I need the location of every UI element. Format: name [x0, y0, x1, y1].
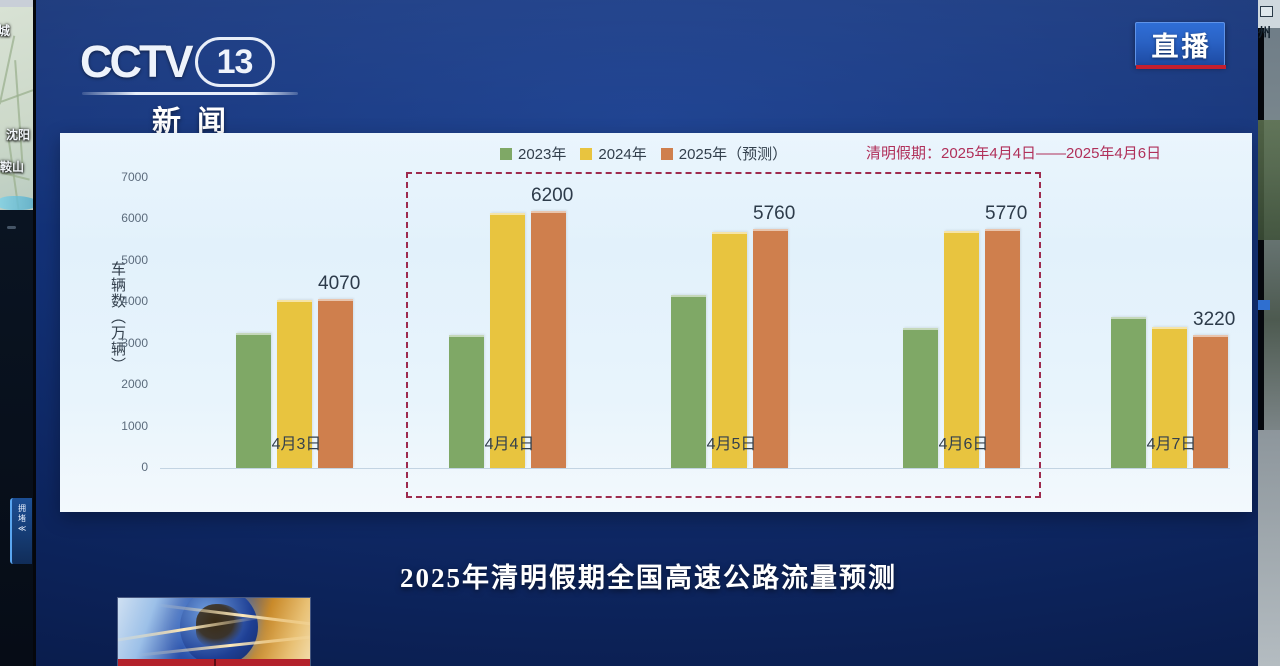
- bar-group-4月7日: 32204月7日: [1111, 178, 1228, 468]
- map-marker: [7, 226, 16, 229]
- map-top-bar: [0, 0, 33, 7]
- channel-number: 13: [195, 37, 275, 87]
- collapse-chevron-icon: ≪: [12, 524, 32, 534]
- studio-screen: CCTV 13 新闻 直播 2023年2024年2025年（预测） 清明假期：2…: [33, 0, 1258, 666]
- y-axis-tick-label: 0: [102, 460, 148, 474]
- holiday-highlight-box: [406, 172, 1041, 498]
- y-axis-tick-label: 5000: [102, 253, 148, 267]
- bar-highlight: [277, 300, 312, 302]
- congestion-tab-char-1: 拥: [12, 504, 32, 514]
- x-axis-tick-label: 4月3日: [236, 430, 357, 454]
- chart-card: 2023年2024年2025年（预测） 清明假期：2025年4月4日——2025…: [60, 133, 1252, 512]
- road-sign-icon: [1260, 6, 1273, 17]
- x-axis-tick-label: 4月7日: [1111, 430, 1232, 454]
- right-video-feed: 州: [1258, 0, 1280, 666]
- y-axis-tick-label: 1000: [102, 419, 148, 433]
- logo-underline: [82, 92, 298, 95]
- cctv13-logo: CCTV 13 新闻: [80, 36, 320, 132]
- bar-group-4月3日: 40704月3日: [236, 178, 353, 468]
- map-city-label: 鞍山: [0, 158, 24, 175]
- bar-value-label: 4070: [318, 273, 353, 295]
- y-axis-tick-label: 3000: [102, 336, 148, 350]
- chart-plot-area: 车辆数（万辆） 70006000500040003000200010000 40…: [60, 133, 1252, 512]
- news-thumbnail: [118, 598, 310, 666]
- y-axis-title: 车辆数（万辆）: [108, 261, 128, 373]
- congestion-tab-char-2: 堵: [12, 514, 32, 524]
- feed-blue-sign: [1258, 300, 1270, 310]
- thumbnail-notch: [214, 659, 216, 666]
- bar-value-label: 3220: [1193, 309, 1228, 331]
- feed-foliage: [1258, 120, 1280, 240]
- bar-highlight: [1193, 335, 1228, 337]
- feed-text-fragment: 州: [1258, 22, 1271, 41]
- live-badge-underline: [1136, 65, 1226, 69]
- bar-highlight: [1152, 327, 1187, 329]
- y-axis-tick-label: 4000: [102, 294, 148, 308]
- map-city-label: 城: [0, 22, 10, 39]
- bar-highlight: [236, 333, 271, 335]
- map-city-label: 沈阳: [6, 126, 30, 143]
- page-title: 2025年清明假期全国高速公路流量预测: [36, 556, 1258, 595]
- live-badge: 直播: [1135, 22, 1225, 66]
- map-sea: [0, 210, 33, 666]
- left-map-feed: 城 沈阳 鞍山 拥 堵 ≪: [0, 0, 33, 666]
- feed-roadway: [1258, 430, 1280, 666]
- y-axis-tick-label: 2000: [102, 377, 148, 391]
- channel-letters: CCTV: [80, 36, 191, 88]
- live-badge-label: 直播: [1149, 25, 1212, 64]
- bar-highlight: [1111, 317, 1146, 319]
- bar-highlight: [318, 299, 353, 301]
- y-axis-tick-label: 7000: [102, 170, 148, 184]
- map-coastline: [0, 196, 33, 210]
- congestion-tab[interactable]: 拥 堵 ≪: [10, 498, 32, 564]
- y-axis-tick-label: 6000: [102, 211, 148, 225]
